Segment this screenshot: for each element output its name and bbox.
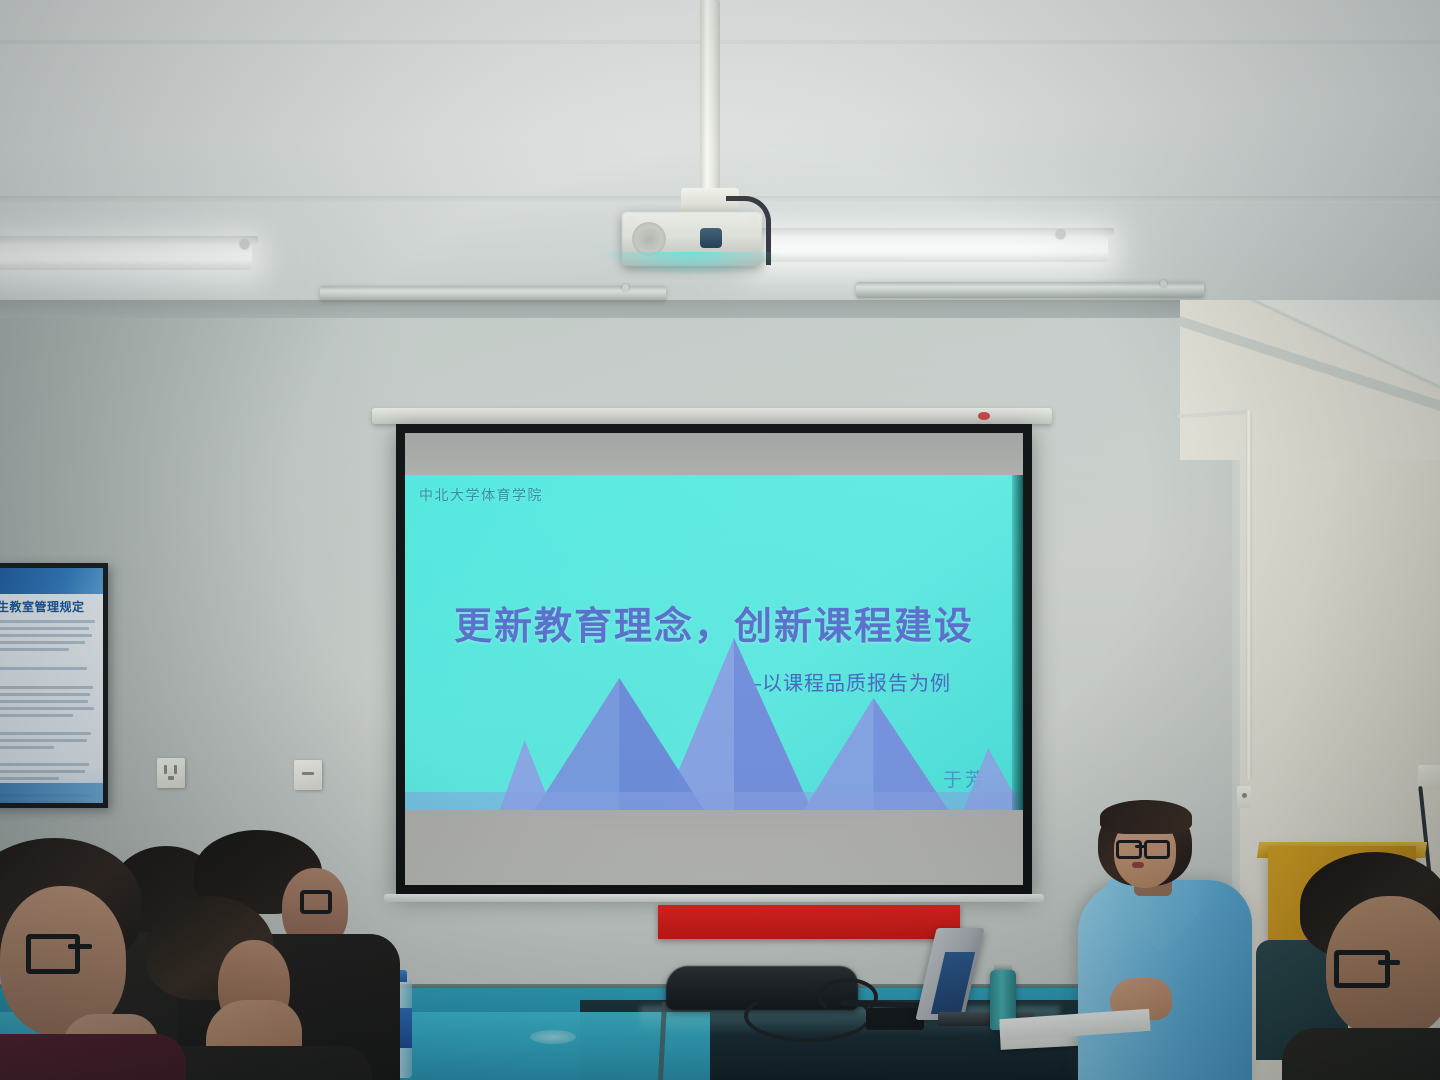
table-coaster	[530, 1030, 576, 1044]
wall-outlet-left[interactable]	[157, 758, 185, 788]
slide-top-band	[405, 433, 1023, 475]
ceiling-light-lower-right-cap	[1160, 280, 1167, 287]
projector-light-glow	[600, 252, 780, 274]
screen-brand-logo-icon	[978, 412, 990, 420]
poster-header-band	[0, 568, 103, 594]
screen-canvas: 中北大学体育学院 更新教育理念，创新课程建设 ——以课程品质报告为例 于芳	[405, 433, 1023, 885]
ceiling-light-left-rail	[0, 236, 258, 244]
ceiling-light-left-cap	[240, 240, 249, 249]
slide-bottom-band	[405, 810, 1023, 885]
projection-screen: 中北大学体育学院 更新教育理念，创新课程建设 ——以课程品质报告为例 于芳	[396, 424, 1032, 894]
projector-knob-left	[626, 216, 635, 225]
cornice-molding	[1180, 300, 1440, 450]
projector-vent	[632, 222, 666, 256]
ceiling	[0, 0, 1440, 330]
wall-poster: 生教室管理规定	[0, 563, 108, 808]
conduit-vertical	[1246, 410, 1252, 780]
slide-organization: 中北大学体育学院	[419, 485, 543, 505]
ceiling-light-left	[0, 244, 252, 270]
photograph-scene: 生教室管理规定	[0, 0, 1440, 1080]
poster-footer-band	[0, 783, 103, 803]
slide-right-edge-shadow	[1012, 475, 1023, 810]
ceiling-light-right	[756, 236, 1108, 262]
presenter-hair-fringe	[1100, 800, 1192, 834]
projector-lens	[700, 228, 722, 248]
ceiling-light-lower-right	[856, 282, 1204, 298]
slide-content: 中北大学体育学院 更新教育理念，创新课程建设 ——以课程品质报告为例 于芳	[405, 475, 1023, 810]
poster-body-text	[0, 620, 99, 803]
wall-outlet-right[interactable]	[294, 760, 322, 790]
projector-mount-pole	[700, 0, 720, 196]
screen-roller-housing[interactable]	[372, 408, 1052, 424]
wall-junction-box	[1237, 786, 1251, 808]
ceiling-light-right-cap	[1056, 230, 1065, 239]
slide-mountain-graphic	[405, 620, 1023, 810]
presenter-glasses-bridge	[1135, 845, 1146, 848]
presenter-glasses-right-lens	[1144, 840, 1170, 859]
presenter-mouth	[1132, 862, 1144, 868]
presenter-glasses-left-lens	[1116, 840, 1142, 859]
ceiling-seam-upper	[0, 40, 1440, 44]
poster-title: 生教室管理规定	[0, 598, 103, 615]
screen-bottom-weight-bar	[384, 894, 1044, 902]
ceiling-light-lower-left-cap	[622, 284, 629, 291]
red-wall-banner	[658, 905, 960, 939]
